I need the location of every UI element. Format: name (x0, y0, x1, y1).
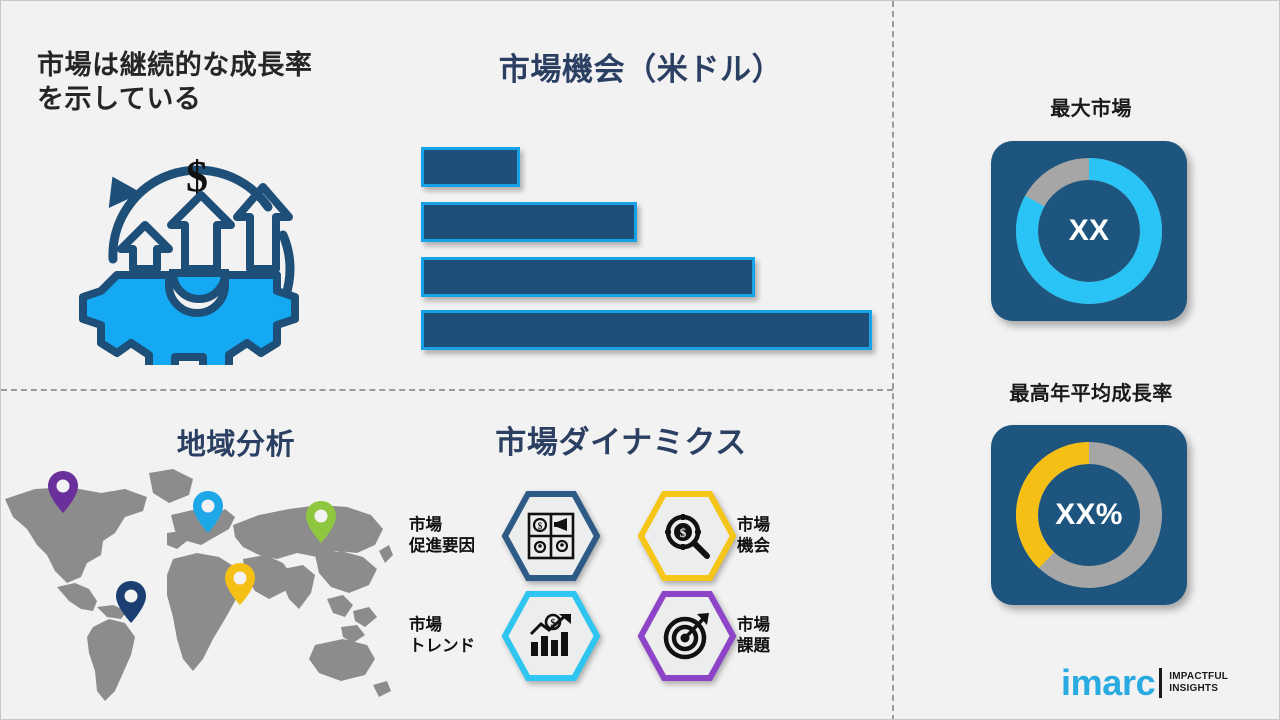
pin-south-america-icon (114, 579, 148, 625)
pin-north-america-icon (46, 469, 80, 515)
largest-market-center-value: XX (991, 141, 1187, 321)
svg-text:$: $ (551, 618, 556, 629)
dynamics-item-label: 市場 課題 (737, 615, 829, 658)
bar-row (421, 202, 637, 242)
dynamics-item-opportunities[interactable]: $ (637, 488, 737, 584)
vertical-divider (892, 1, 894, 720)
dynamics-row-1: 市場 促進要因 $ (409, 486, 829, 586)
opportunity-panel-title: 市場機会（米ドル） (401, 51, 881, 90)
dynamics-panel-title: 市場ダイナミクス (421, 424, 821, 463)
magnifier-dollar-icon: $ (663, 512, 711, 560)
puzzle-pieces-icon: $ (527, 512, 575, 560)
logo-tagline-line2: INSIGHTS (1169, 683, 1228, 696)
logo-tagline-line1: IMPACTFUL (1169, 671, 1228, 684)
dynamics-item-label: 市場 トレンド (409, 615, 501, 658)
pin-east-asia-icon (304, 499, 338, 545)
growth-panel-title: 市場は継続的な成長率 を示している (37, 49, 387, 117)
highest-cagr-center-value: XX% (991, 425, 1187, 605)
logo-divider (1159, 668, 1162, 698)
growth-bar-chart-icon: $ (527, 612, 575, 660)
pin-europe-icon (191, 489, 225, 535)
largest-market-title: 最大市場 (941, 97, 1241, 122)
imarc-logo: imarc IMPACTFUL INSIGHTS (1061, 659, 1261, 707)
growth-gear-icon: $ (73, 129, 323, 365)
infographic-slide: 市場は継続的な成長率 を示している $ 市場機会（米ドル） 地域分析 (0, 0, 1280, 720)
market-opportunity-bar-chart (419, 145, 879, 355)
dynamics-item-label: 市場 促進要因 (409, 515, 501, 558)
horizontal-divider (1, 389, 893, 391)
bar-row (421, 257, 755, 297)
highest-cagr-title: 最高年平均成長率 (926, 382, 1256, 407)
regional-panel-title: 地域分析 (111, 427, 361, 463)
svg-text:$: $ (680, 525, 687, 540)
bar-row (421, 147, 520, 187)
highest-cagr-card: XX% (991, 425, 1187, 605)
dynamics-item-challenges[interactable] (637, 588, 737, 684)
svg-text:$: $ (538, 521, 543, 531)
logo-tagline: IMPACTFUL INSIGHTS (1169, 671, 1228, 696)
dynamics-item-drivers[interactable]: $ (501, 488, 601, 584)
dynamics-item-trends[interactable]: $ (501, 588, 601, 684)
logo-wordmark: imarc (1061, 665, 1155, 701)
dynamics-row-2: 市場 トレンド $ (409, 586, 829, 686)
dynamics-item-label: 市場 機会 (737, 515, 829, 558)
bar-row (421, 310, 872, 350)
largest-market-card: XX (991, 141, 1187, 321)
target-arrow-icon (663, 612, 711, 660)
pin-africa-icon (223, 561, 257, 607)
